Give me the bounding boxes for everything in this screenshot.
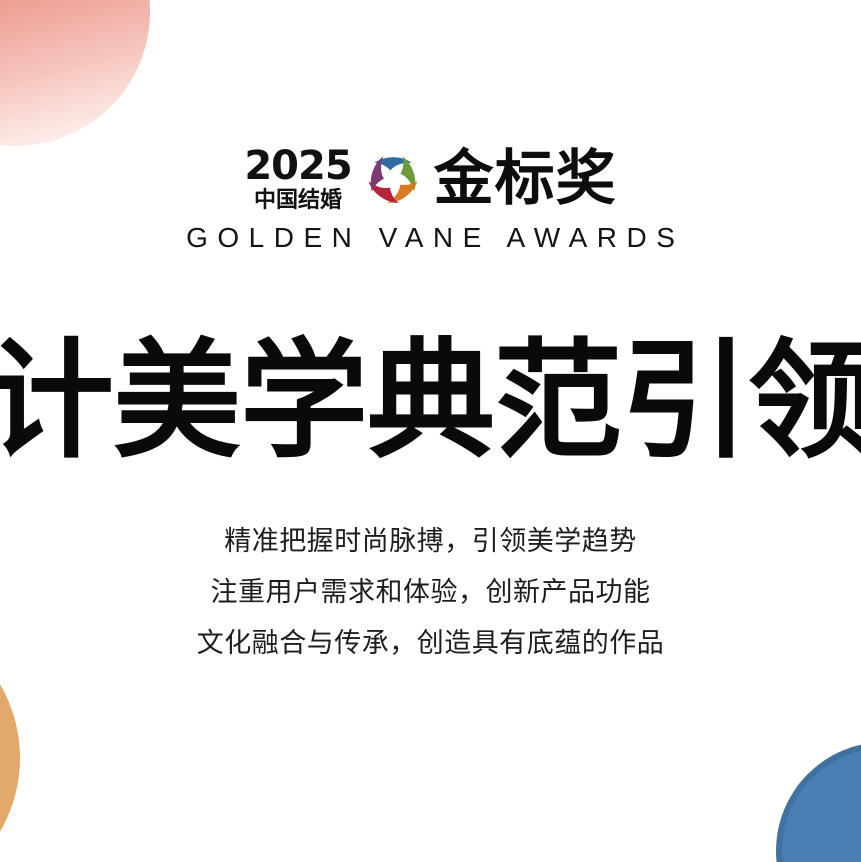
logo-award-name-en: GOLDEN VANE AWARDS xyxy=(177,222,685,254)
description-line: 注重用户需求和体验，创新产品功能 xyxy=(211,579,651,606)
description-line: 精准把握时尚脉搏，引领美学趋势 xyxy=(224,528,637,555)
bottom-right-circle-decoration xyxy=(776,742,861,862)
top-left-circle-decoration xyxy=(0,0,150,146)
award-poster: 2025 中国结婚 xyxy=(0,0,861,862)
logo-main-row: 2025 中国结婚 xyxy=(244,146,616,211)
logo-year-subtitle: 中国结婚 xyxy=(254,189,342,211)
logo-year-number: 2025 xyxy=(244,146,351,186)
description-list: 精准把握时尚脉搏，引领美学趋势 注重用户需求和体验，创新产品功能 文化融合与传承… xyxy=(0,528,861,657)
pinwheel-pentagon-icon xyxy=(362,148,424,210)
page-title: 设计美学典范引领奖 xyxy=(0,332,861,472)
logo-award-name-cn: 金标奖 xyxy=(434,149,617,209)
logo-year-group: 2025 中国结婚 xyxy=(244,146,351,211)
description-line: 文化融合与传承，创造具有底蕴的作品 xyxy=(197,630,665,657)
bottom-right-circle-highlight xyxy=(782,748,861,862)
award-logo: 2025 中国结婚 xyxy=(0,146,861,254)
